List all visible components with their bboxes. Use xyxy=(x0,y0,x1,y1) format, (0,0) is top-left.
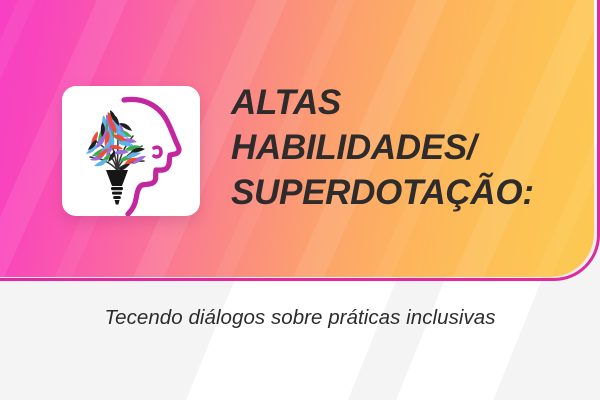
title-line-1: ALTAS xyxy=(231,80,581,125)
lightbulb-base xyxy=(106,170,128,205)
logo-card xyxy=(62,86,200,216)
title-line-2: HABILIDADES/ xyxy=(231,125,581,170)
ear-detail xyxy=(154,147,161,157)
event-banner: ALTAS HABILIDADES/ SUPERDOTAÇÃO: Tecendo… xyxy=(0,0,600,400)
banner-title: ALTAS HABILIDADES/ SUPERDOTAÇÃO: xyxy=(231,80,581,215)
title-line-3: SUPERDOTAÇÃO: xyxy=(231,170,581,215)
banner-subtitle: Tecendo diálogos sobre práticas inclusiv… xyxy=(0,304,600,332)
lightbulb-tree-head-profile-icon xyxy=(62,86,200,216)
tree-foliage xyxy=(86,110,146,173)
